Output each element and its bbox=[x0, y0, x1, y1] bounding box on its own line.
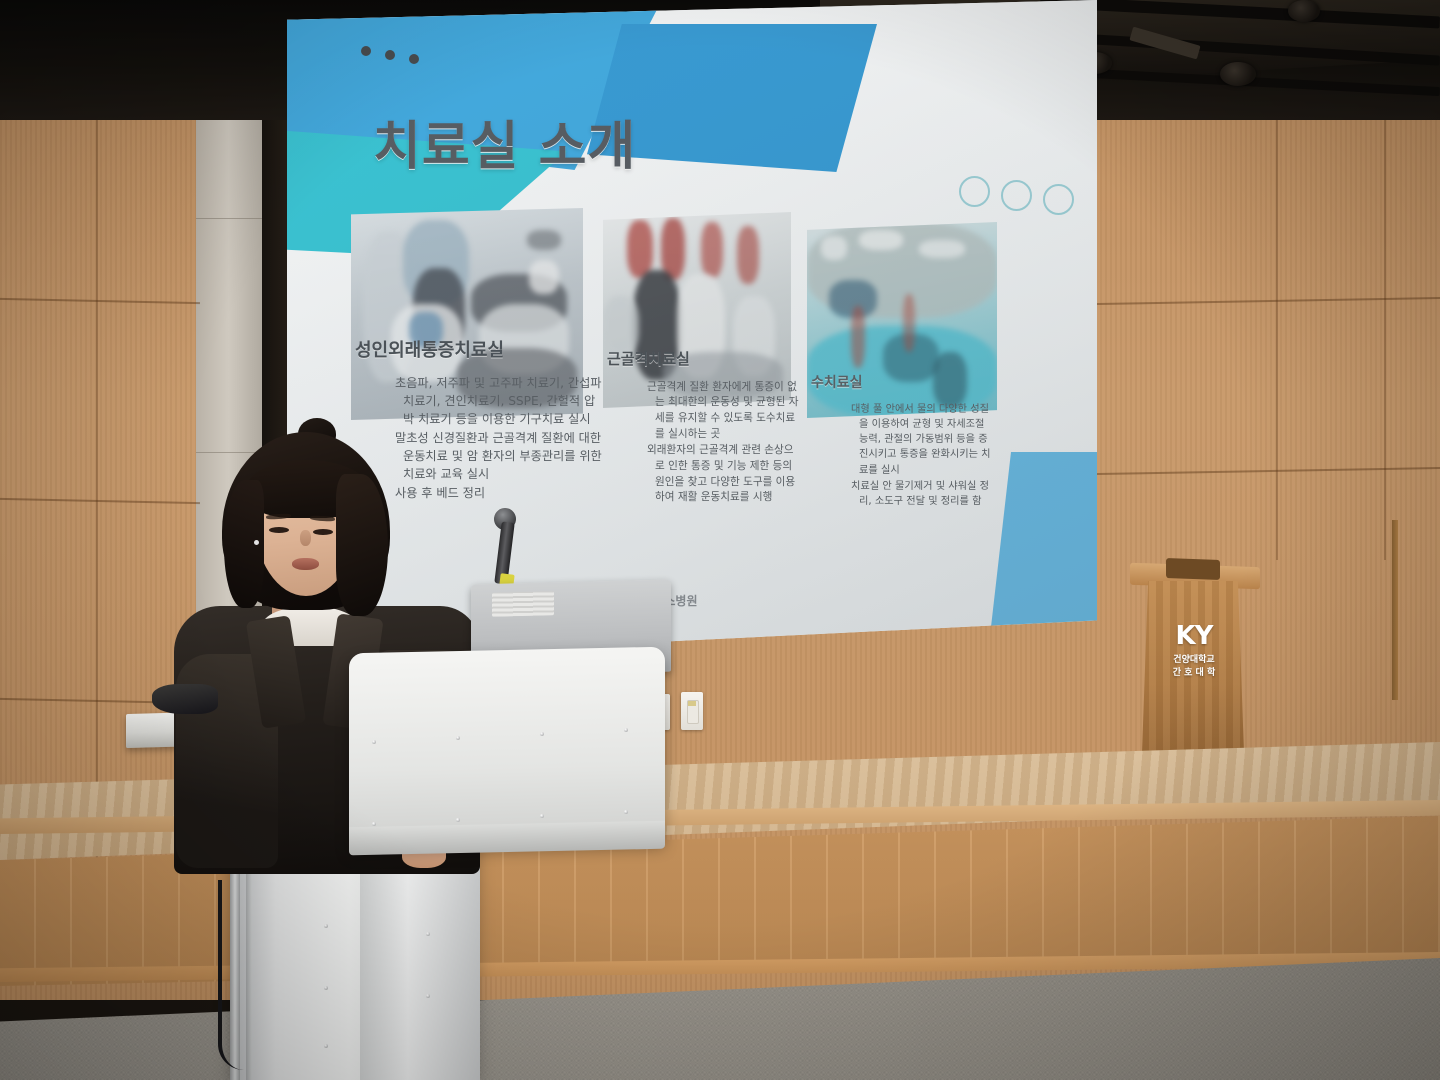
slide-dot bbox=[361, 46, 371, 56]
slide-ring bbox=[1043, 184, 1074, 215]
slide-title: 치료실 소개 bbox=[373, 104, 636, 179]
slide-bullet: 치료실 안 물기제거 및 샤워실 정리, 소도구 전달 및 정리를 함 bbox=[851, 479, 995, 509]
slide-bullet: 근골격계 질환 환자에게 통증이 없는 최대한의 운동성 및 균형된 자세를 유… bbox=[647, 380, 799, 443]
door-frame-right bbox=[1392, 520, 1398, 700]
stage-light-fixture bbox=[1220, 62, 1256, 86]
podium-logo-mark: KY bbox=[1164, 623, 1224, 649]
slide-ring bbox=[959, 176, 990, 207]
presenter-mouth bbox=[292, 558, 319, 570]
podium-logo: KY 건양대학교 간 호 대 학 bbox=[1164, 623, 1224, 679]
slide-bullet: 외래환자의 근골격계 관련 손상으로 인한 통증 및 기능 제한 등의 원인을 … bbox=[647, 443, 799, 506]
presenter-hair-side-right bbox=[336, 474, 388, 616]
presenter-eye bbox=[269, 527, 289, 533]
slide-text-block-3: 수치료실 대형 풀 안에서 물의 다양한 성질을 이용하여 균형 및 자세조절 … bbox=[811, 372, 995, 519]
presenter-nose bbox=[300, 530, 311, 546]
podium-college-name: 간 호 대 학 bbox=[1164, 667, 1224, 679]
light-switch-plate[interactable] bbox=[681, 692, 703, 730]
slide-ring bbox=[1001, 180, 1032, 211]
podium-slot bbox=[1166, 558, 1220, 580]
presentation-scene: 치료실 소개 bbox=[0, 0, 1440, 1080]
podium-university-name: 건양대학교 bbox=[1164, 654, 1224, 666]
slide-heading-2: 근골격치료실 bbox=[607, 348, 799, 369]
presenter-earring bbox=[254, 540, 259, 545]
slide-bullet: 대형 풀 안에서 물의 다양한 성질을 이용하여 균형 및 자세조절 능력, 관… bbox=[851, 402, 995, 477]
lectern-dark-object bbox=[152, 684, 218, 714]
presenter-eye bbox=[313, 529, 333, 535]
stage-light-fixture bbox=[1288, 0, 1320, 22]
laptop-label-sticker bbox=[492, 591, 554, 617]
slide-heading-1: 성인외래통증치료실 bbox=[355, 336, 605, 362]
slide-text-block-2: 근골격치료실 근골격계 질환 환자에게 통증이 없는 최대한의 운동성 및 균형… bbox=[607, 348, 799, 517]
wooden-podium: KY 건양대학교 간 호 대 학 bbox=[1130, 565, 1260, 755]
lectern-reading-panel bbox=[349, 647, 665, 850]
slide-heading-3: 수치료실 bbox=[811, 372, 995, 392]
slide-dot bbox=[385, 50, 395, 60]
lectern-front-group bbox=[126, 700, 562, 1080]
slide-dot bbox=[409, 54, 419, 64]
